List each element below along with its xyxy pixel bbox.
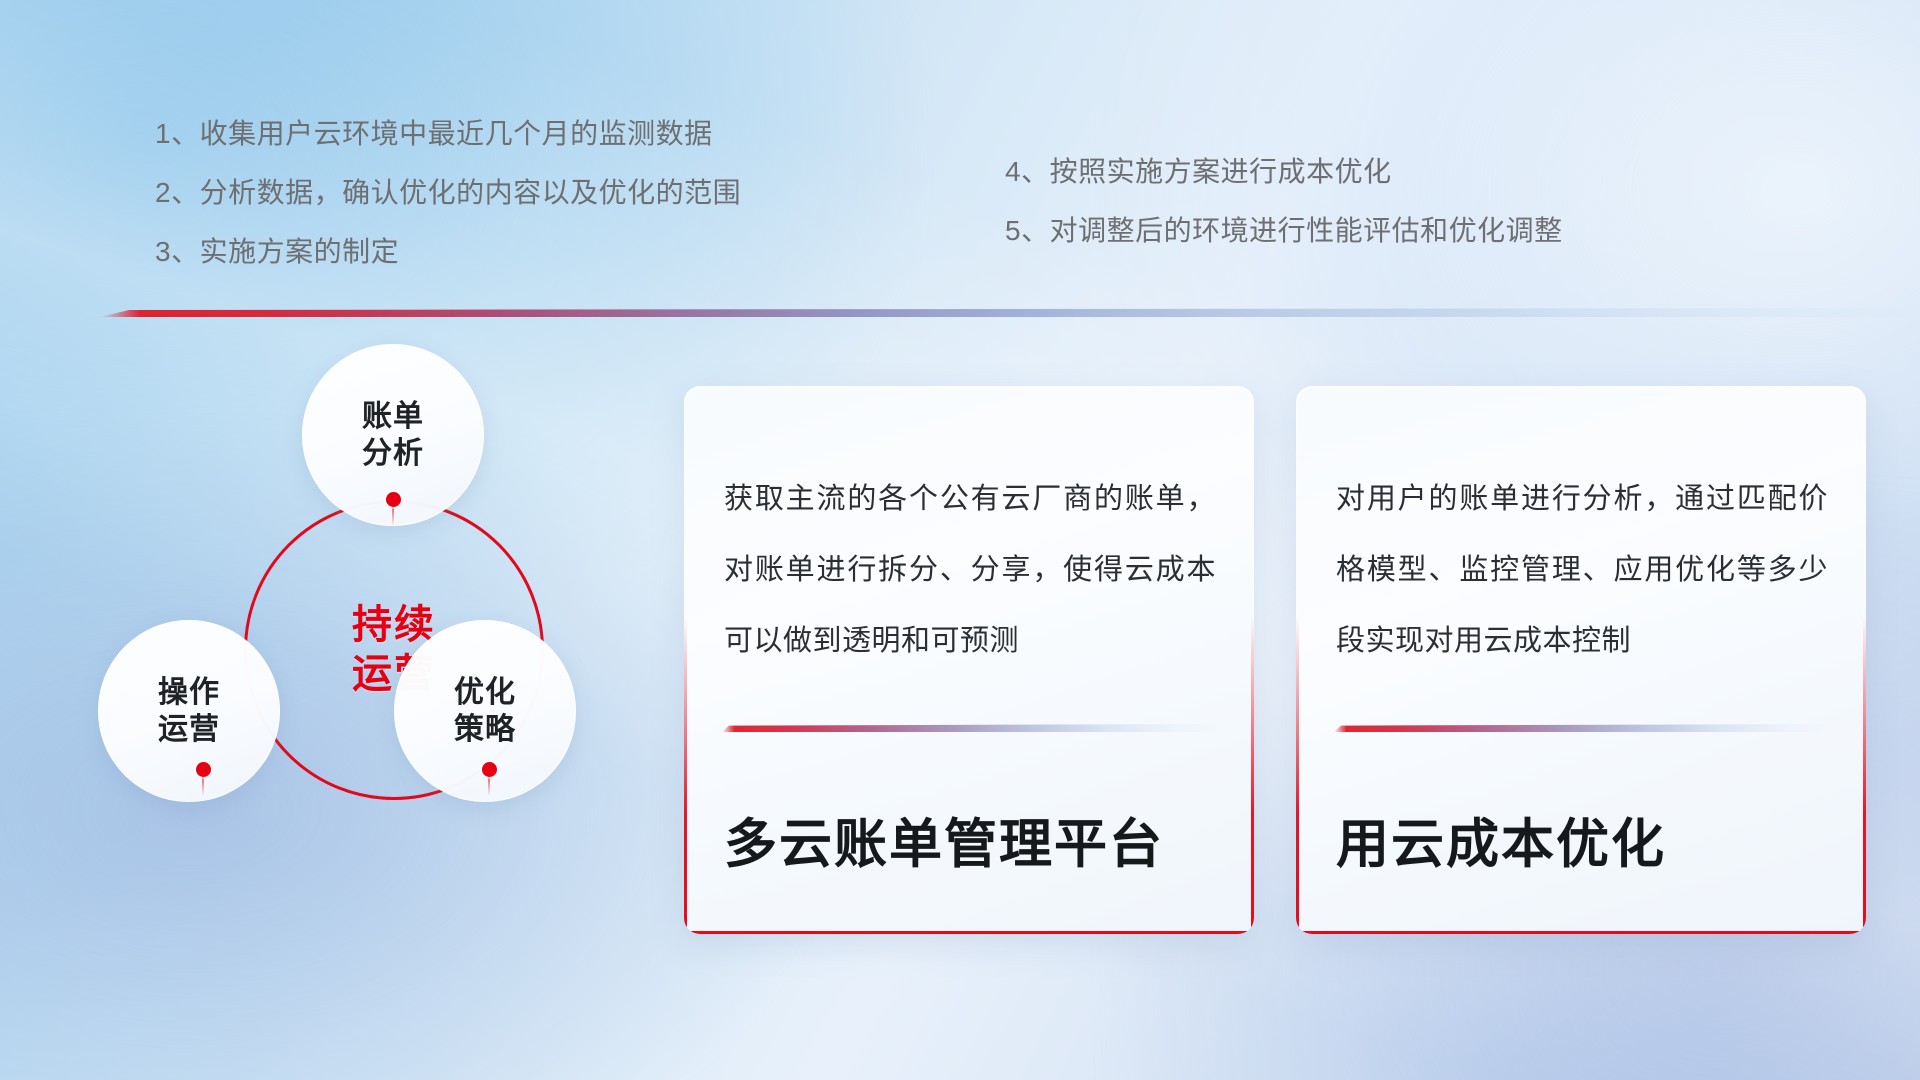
node-label-line1: 优化 [454,674,516,711]
node-label-line2: 分析 [362,435,424,472]
diagram-dot-right [482,762,497,777]
node-label-line1: 操作 [158,674,220,711]
node-label-line2: 运营 [158,711,220,748]
card-title: 用云成本优化 [1336,816,1828,874]
card-edge-left [1296,386,1299,934]
card-edge-bottom [1296,931,1866,934]
step-item-4: 4、按照实施方案进行成本优化 [1005,158,1563,186]
step-item-5: 5、对调整后的环境进行性能评估和优化调整 [1005,217,1563,245]
steps-column-left: 1、收集用户云环境中最近几个月的监测数据 2、分析数据，确认优化的内容以及优化的… [155,120,741,297]
card-edge-bottom [684,931,1254,934]
diagram-tick-top [392,504,394,526]
diagram-node-operation[interactable]: 操作 运营 [98,620,280,802]
card-accent-rule [1334,724,1828,732]
card-edge-right [1863,386,1866,934]
card-accent-rule [722,724,1216,732]
feature-card-cloud-cost-optimization[interactable]: 对用户的账单进行分析，通过匹配价格模型、监控管理、应用优化等多少段实现对用云成本… [1296,386,1866,934]
step-item-2: 2、分析数据，确认优化的内容以及优化的范围 [155,179,741,207]
card-description: 获取主流的各个公有云厂商的账单，对账单进行拆分、分享，使得云成本可以做到透明和可… [724,464,1216,677]
continuous-operation-diagram: 持续 运营 账单 分析 操作 运营 优化 策略 [96,352,666,932]
diagram-tick-right [488,774,490,796]
feature-card-multi-cloud-bill-platform[interactable]: 获取主流的各个公有云厂商的账单，对账单进行拆分、分享，使得云成本可以做到透明和可… [684,386,1254,934]
card-edge-right [1251,386,1254,934]
step-item-1: 1、收集用户云环境中最近几个月的监测数据 [155,120,741,148]
node-label-line2: 策略 [454,711,516,748]
diagram-dot-left [196,762,211,777]
diagram-tick-left [202,774,204,796]
card-edge-left [684,386,687,934]
steps-section: 1、收集用户云环境中最近几个月的监测数据 2、分析数据，确认优化的内容以及优化的… [0,0,1920,300]
diagram-dot-top [386,492,401,507]
card-title: 多云账单管理平台 [724,816,1216,874]
card-description: 对用户的账单进行分析，通过匹配价格模型、监控管理、应用优化等多少段实现对用云成本… [1336,464,1828,677]
step-item-3: 3、实施方案的制定 [155,238,741,266]
node-label-line1: 账单 [362,398,424,435]
steps-column-right: 4、按照实施方案进行成本优化 5、对调整后的环境进行性能评估和优化调整 [1005,158,1563,276]
